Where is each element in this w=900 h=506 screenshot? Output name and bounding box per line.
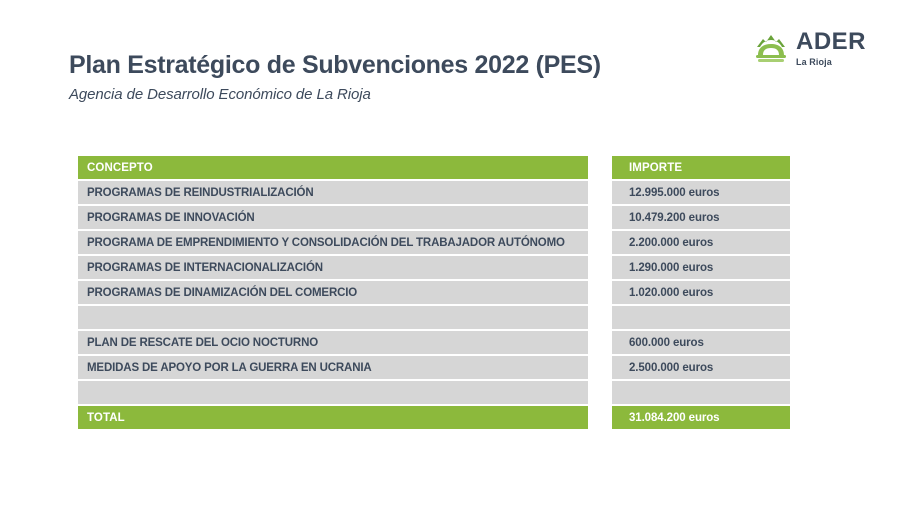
row-concept-label: PROGRAMAS DE REINDUSTRIALIZACIÓN bbox=[87, 187, 313, 199]
row-amount-value: 10.479.200 euros bbox=[629, 212, 719, 224]
logo-region: La Rioja bbox=[796, 58, 832, 67]
column-header-importe-label: IMPORTE bbox=[629, 162, 682, 174]
row-concept-label: PLAN DE RESCATE DEL OCIO NOCTURNO bbox=[87, 337, 318, 349]
row-amount-cell: 2.500.000 euros bbox=[612, 356, 790, 379]
row-amount-cell: 2.200.000 euros bbox=[612, 231, 790, 254]
row-concept-label: PROGRAMAS DE DINAMIZACIÓN DEL COMERCIO bbox=[87, 287, 357, 299]
row-amount-cell: 1.020.000 euros bbox=[612, 281, 790, 304]
row-amount-cell bbox=[612, 306, 790, 329]
column-header-importe: IMPORTE bbox=[612, 156, 790, 179]
row-concept-cell: PROGRAMA DE EMPRENDIMIENTO Y CONSOLIDACI… bbox=[78, 231, 588, 254]
row-amount-value: 600.000 euros bbox=[629, 337, 704, 349]
row-amount-cell: 12.995.000 euros bbox=[612, 181, 790, 204]
logo-text: ADER La Rioja bbox=[796, 30, 866, 67]
row-amount-cell: 600.000 euros bbox=[612, 331, 790, 354]
row-amount-value: 1.020.000 euros bbox=[629, 287, 713, 299]
table-total-row: TOTAL 31.084.200 euros bbox=[78, 406, 790, 429]
total-amount-value: 31.084.200 euros bbox=[629, 412, 719, 424]
table-row-spacer bbox=[78, 306, 790, 329]
table-header-row: CONCEPTO IMPORTE bbox=[78, 156, 790, 179]
row-concept-label: PROGRAMAS DE INNOVACIÓN bbox=[87, 212, 255, 224]
total-label: TOTAL bbox=[87, 412, 125, 424]
row-concept-cell: PROGRAMAS DE INTERNACIONALIZACIÓN bbox=[78, 256, 588, 279]
row-concept-cell bbox=[78, 381, 588, 404]
row-amount-cell: 1.290.000 euros bbox=[612, 256, 790, 279]
column-header-concepto-label: CONCEPTO bbox=[87, 162, 153, 174]
row-amount-value: 12.995.000 euros bbox=[629, 187, 719, 199]
table-row: MEDIDAS DE APOYO POR LA GUERRA EN UCRANI… bbox=[78, 356, 790, 379]
page-subtitle: Agencia de Desarrollo Económico de La Ri… bbox=[69, 86, 601, 103]
logo-name: ADER bbox=[796, 30, 866, 54]
row-amount-cell bbox=[612, 381, 790, 404]
row-amount-cell: 10.479.200 euros bbox=[612, 206, 790, 229]
total-amount-cell: 31.084.200 euros bbox=[612, 406, 790, 429]
row-concept-cell: PROGRAMAS DE REINDUSTRIALIZACIÓN bbox=[78, 181, 588, 204]
table-row: PROGRAMA DE EMPRENDIMIENTO Y CONSOLIDACI… bbox=[78, 231, 790, 254]
table-row: PROGRAMAS DE INNOVACIÓN 10.479.200 euros bbox=[78, 206, 790, 229]
row-amount-value: 2.200.000 euros bbox=[629, 237, 713, 249]
slide-header: Plan Estratégico de Subvenciones 2022 (P… bbox=[0, 0, 900, 130]
table-row-spacer bbox=[78, 381, 790, 404]
total-label-cell: TOTAL bbox=[78, 406, 588, 429]
row-amount-value: 2.500.000 euros bbox=[629, 362, 713, 374]
row-concept-label: PROGRAMA DE EMPRENDIMIENTO Y CONSOLIDACI… bbox=[87, 237, 565, 249]
table-row: PROGRAMAS DE INTERNACIONALIZACIÓN 1.290.… bbox=[78, 256, 790, 279]
row-amount-value: 1.290.000 euros bbox=[629, 262, 713, 274]
page-title: Plan Estratégico de Subvenciones 2022 (P… bbox=[69, 52, 601, 80]
ader-logo: ADER La Rioja bbox=[753, 30, 866, 67]
column-header-concepto: CONCEPTO bbox=[78, 156, 588, 179]
budget-table: CONCEPTO IMPORTE PROGRAMAS DE REINDUSTRI… bbox=[78, 156, 790, 431]
row-concept-cell: PROGRAMAS DE DINAMIZACIÓN DEL COMERCIO bbox=[78, 281, 588, 304]
table-row: PROGRAMAS DE DINAMIZACIÓN DEL COMERCIO 1… bbox=[78, 281, 790, 304]
row-concept-label: PROGRAMAS DE INTERNACIONALIZACIÓN bbox=[87, 262, 323, 274]
row-concept-label: MEDIDAS DE APOYO POR LA GUERRA EN UCRANI… bbox=[87, 362, 372, 374]
table-row: PROGRAMAS DE REINDUSTRIALIZACIÓN 12.995.… bbox=[78, 181, 790, 204]
row-concept-cell bbox=[78, 306, 588, 329]
mountain-bridge-icon bbox=[753, 32, 789, 66]
table-row: PLAN DE RESCATE DEL OCIO NOCTURNO 600.00… bbox=[78, 331, 790, 354]
row-concept-cell: MEDIDAS DE APOYO POR LA GUERRA EN UCRANI… bbox=[78, 356, 588, 379]
row-concept-cell: PLAN DE RESCATE DEL OCIO NOCTURNO bbox=[78, 331, 588, 354]
row-concept-cell: PROGRAMAS DE INNOVACIÓN bbox=[78, 206, 588, 229]
title-block: Plan Estratégico de Subvenciones 2022 (P… bbox=[69, 52, 601, 103]
